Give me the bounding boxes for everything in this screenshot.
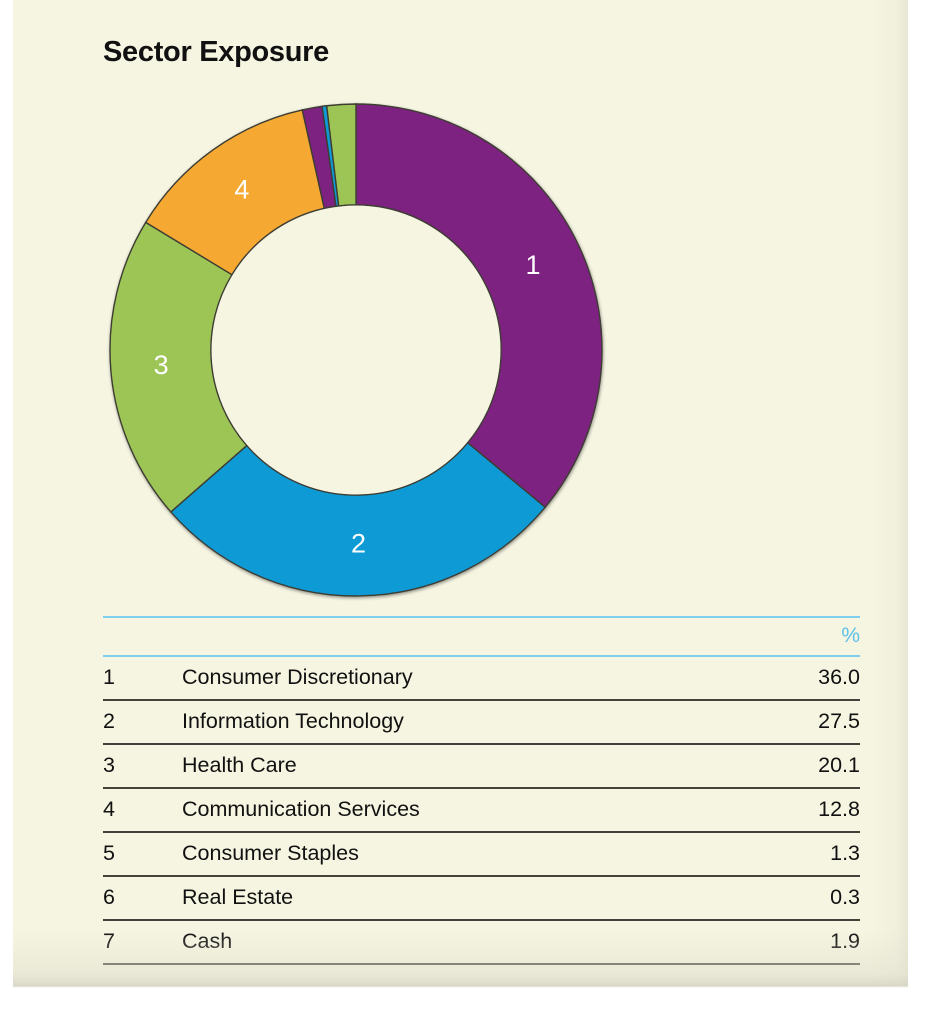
table-row: 6Real Estate0.3 <box>103 876 860 920</box>
donut-hole <box>212 206 501 495</box>
donut-svg: 1234 <box>100 88 620 613</box>
table-body: 1Consumer Discretionary36.02Information … <box>103 656 860 964</box>
sector-exposure-donut-chart: 1234 <box>100 88 620 613</box>
donut-slice-label: 2 <box>351 529 366 559</box>
table-row: 3Health Care20.1 <box>103 744 860 788</box>
row-number: 5 <box>103 832 182 876</box>
row-percent-value: 12.8 <box>722 788 860 832</box>
table-row: 1Consumer Discretionary36.0 <box>103 656 860 700</box>
row-number: 3 <box>103 744 182 788</box>
row-sector-name: Consumer Discretionary <box>182 656 722 700</box>
row-percent-value: 27.5 <box>722 700 860 744</box>
page-title: Sector Exposure <box>103 36 329 69</box>
table-header-row: % <box>103 617 860 656</box>
row-sector-name: Cash <box>182 920 722 964</box>
row-number: 6 <box>103 876 182 920</box>
row-number: 7 <box>103 920 182 964</box>
sector-exposure-table: % 1Consumer Discretionary36.02Informatio… <box>103 616 860 965</box>
row-sector-name: Real Estate <box>182 876 722 920</box>
donut-slice-label: 3 <box>154 350 169 380</box>
col-header-sector <box>182 617 722 656</box>
row-number: 2 <box>103 700 182 744</box>
row-percent-value: 1.3 <box>722 832 860 876</box>
col-header-percent: % <box>722 617 860 656</box>
donut-slice-label: 1 <box>526 250 541 280</box>
row-sector-name: Communication Services <box>182 788 722 832</box>
table-row: 7Cash1.9 <box>103 920 860 964</box>
row-percent-value: 1.9 <box>722 920 860 964</box>
table-row: 4Communication Services12.8 <box>103 788 860 832</box>
donut-slice-label: 4 <box>234 174 249 204</box>
row-sector-name: Consumer Staples <box>182 832 722 876</box>
table-row: 5Consumer Staples1.3 <box>103 832 860 876</box>
table-head: % <box>103 617 860 656</box>
row-sector-name: Information Technology <box>182 700 722 744</box>
row-number: 1 <box>103 656 182 700</box>
row-number: 4 <box>103 788 182 832</box>
col-header-number <box>103 617 182 656</box>
row-percent-value: 0.3 <box>722 876 860 920</box>
table-row: 2Information Technology27.5 <box>103 700 860 744</box>
row-percent-value: 20.1 <box>722 744 860 788</box>
row-sector-name: Health Care <box>182 744 722 788</box>
row-percent-value: 36.0 <box>722 656 860 700</box>
